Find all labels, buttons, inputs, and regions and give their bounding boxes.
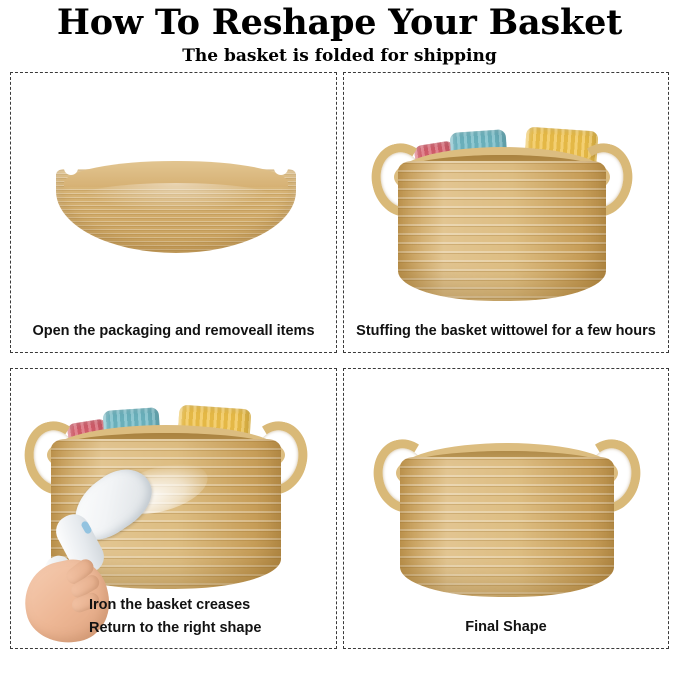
panel-3-caption-line-2: Return to the right shape	[89, 617, 328, 640]
page-title: How To Reshape Your Basket	[0, 2, 679, 44]
panel-2-caption: Stuffing the basket wittowel for a few h…	[344, 321, 668, 342]
basket	[374, 417, 640, 623]
infographic-page: How To Reshape Your Basket The basket is…	[0, 0, 679, 679]
step-panel-4: Final Shape	[343, 368, 669, 649]
page-subtitle: The basket is folded for shipping	[0, 45, 679, 67]
step-panel-3: Iron the basket creases Return to the ri…	[10, 368, 337, 649]
basket-body	[400, 457, 614, 597]
illustration-final-basket	[344, 369, 668, 648]
step-panel-1: Open the packaging and removeall items	[10, 72, 337, 353]
step-panel-2: Stuffing the basket wittowel for a few h…	[343, 72, 669, 353]
flat-basket-highlight	[76, 183, 276, 213]
panel-1-caption: Open the packaging and removeall items	[11, 321, 336, 342]
illustration-basket-with-towels	[344, 73, 668, 352]
panel-3-caption: Iron the basket creases Return to the ri…	[89, 594, 328, 640]
flat-basket	[56, 161, 296, 261]
panel-3-caption-line-1: Iron the basket creases	[89, 594, 328, 617]
basket-body	[398, 161, 606, 301]
illustration-flat-folded-basket	[11, 73, 336, 352]
panel-4-caption: Final Shape	[344, 617, 668, 638]
basket	[372, 121, 632, 321]
